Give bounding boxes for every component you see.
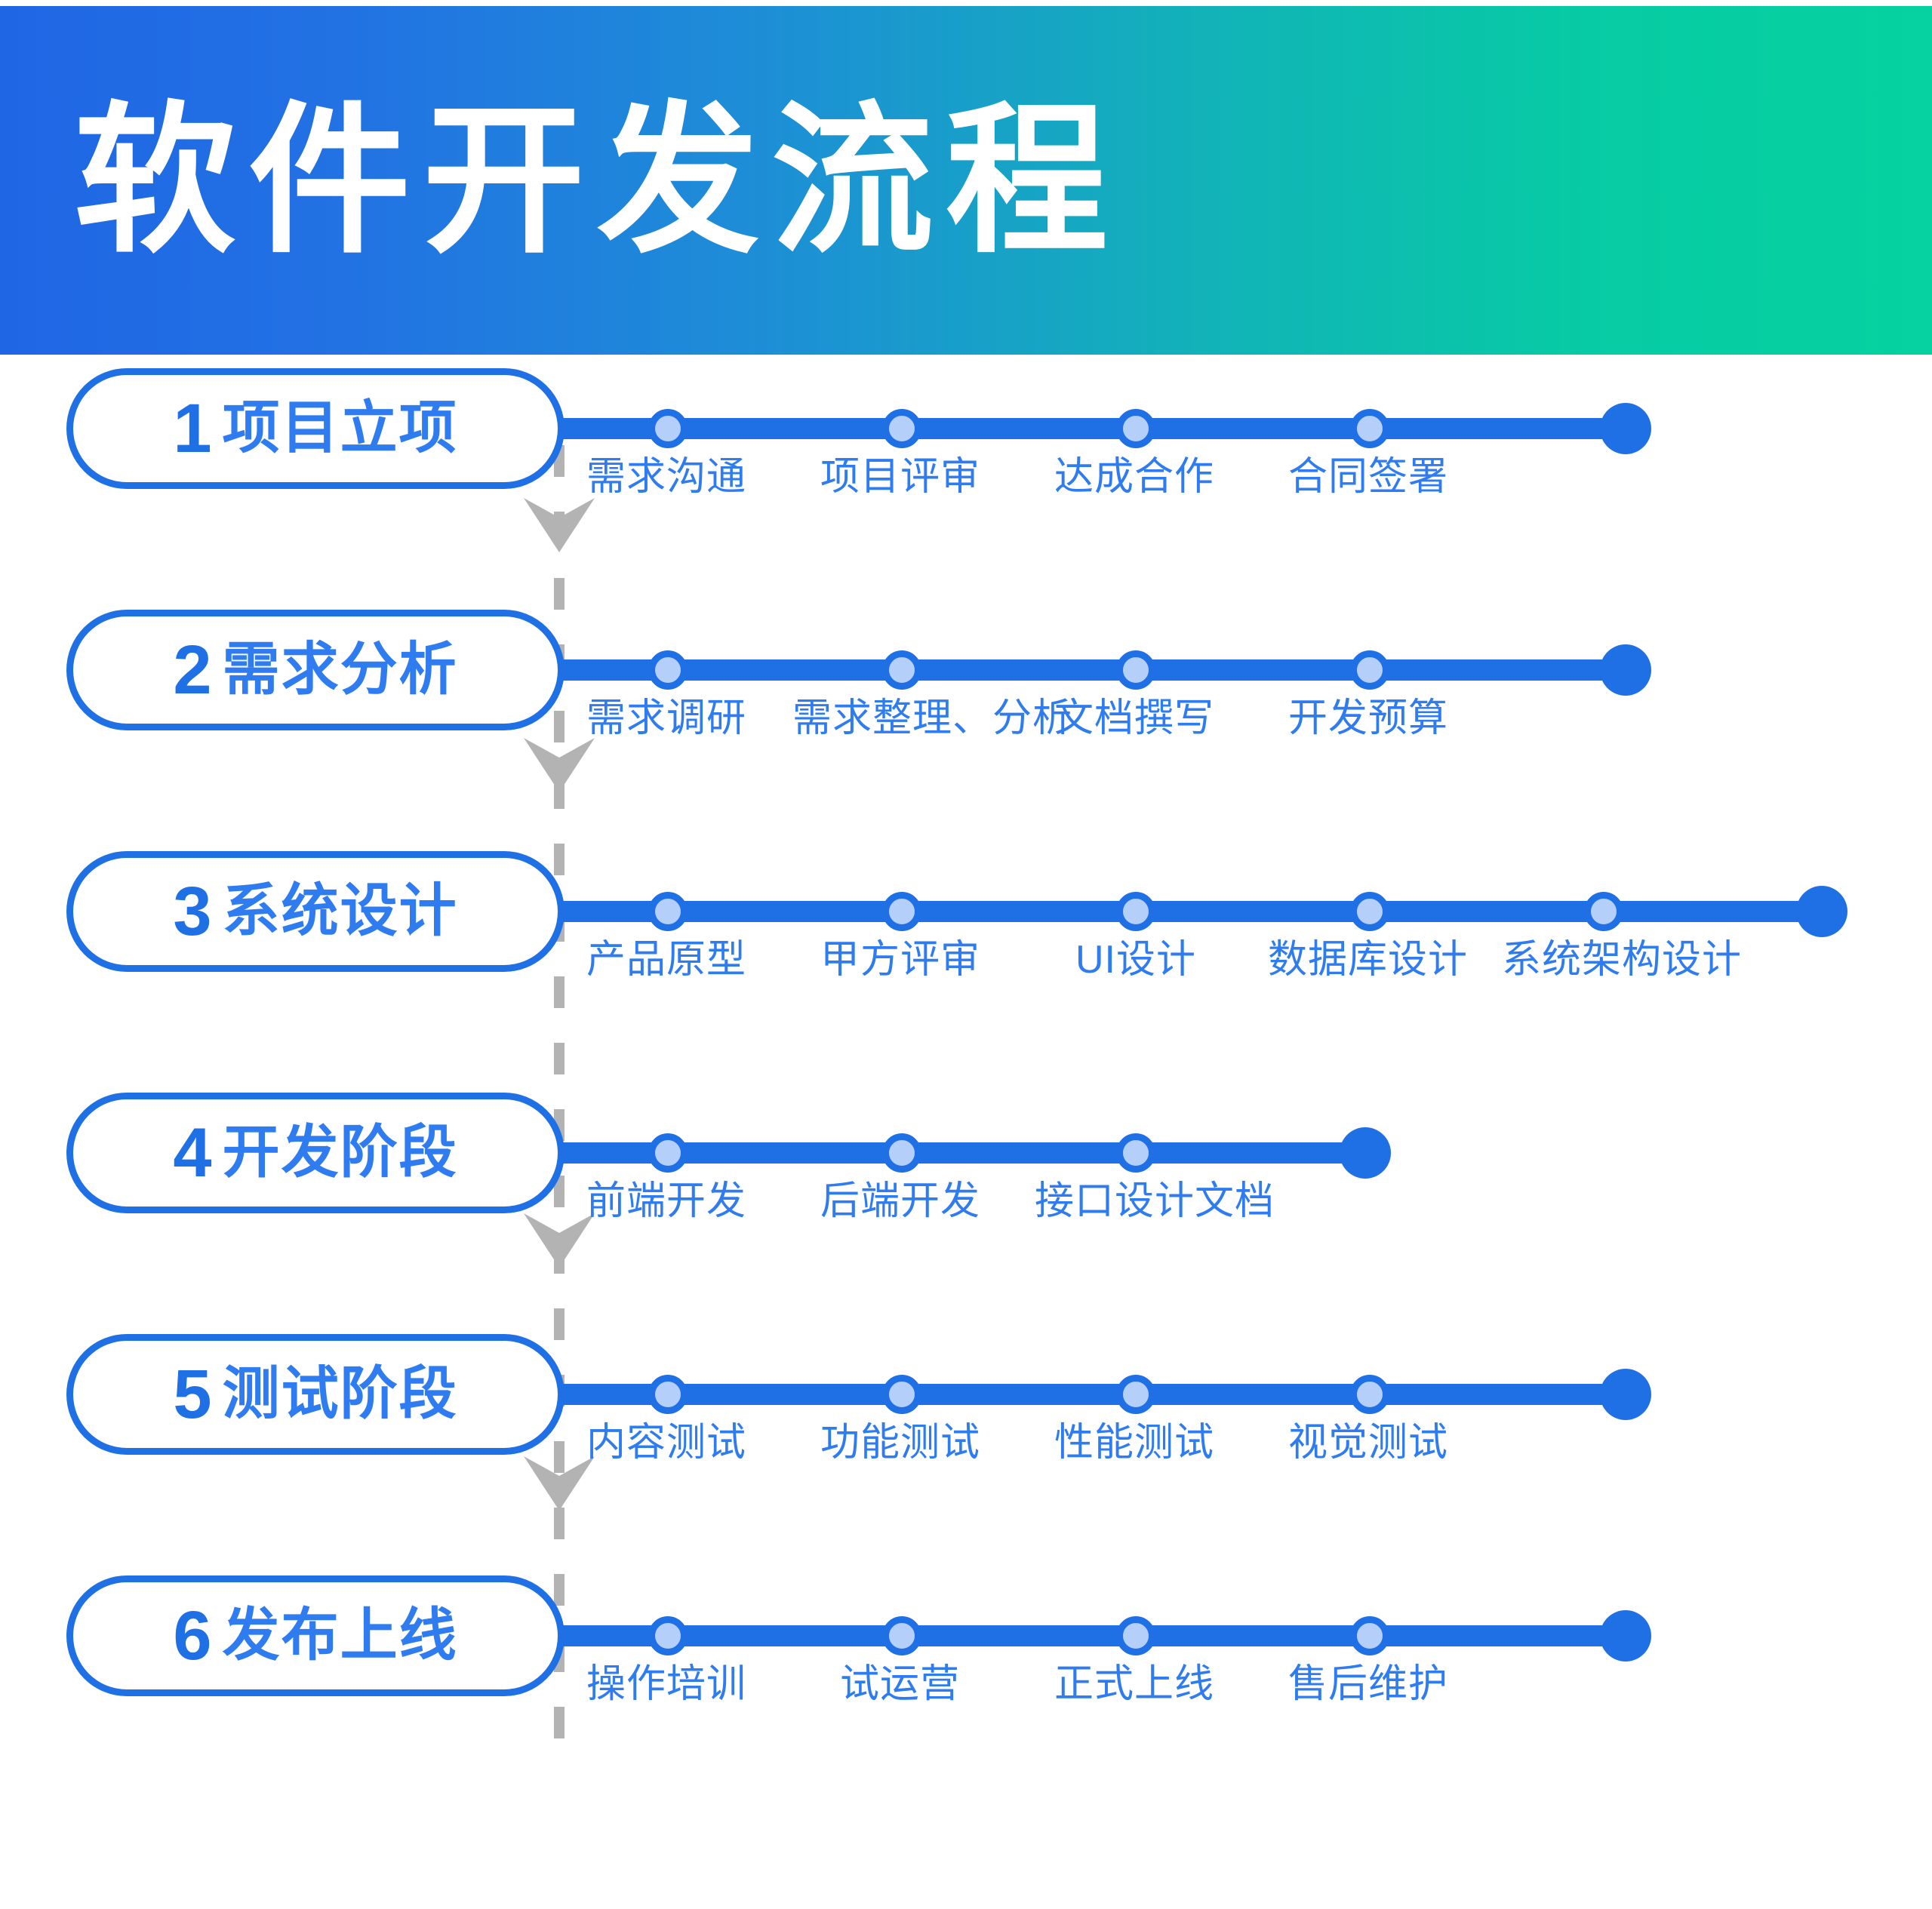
stage-row-5: 5 测试阶段 内容测试 功能测试 性能测试 视觉测试 bbox=[0, 1320, 1932, 1562]
timeline-node-4-1[interactable] bbox=[648, 1133, 688, 1173]
step-label-1-4: 合同签署 bbox=[1288, 456, 1448, 499]
stage-pill-5[interactable]: 5 测试阶段 bbox=[66, 1334, 565, 1455]
timeline-node-3-3[interactable] bbox=[1116, 892, 1155, 931]
flow-diagram: 1 项目立项 需求沟通 项目评审 达成合作 合同签署 2 需求分析 需求调研 需… bbox=[0, 355, 1932, 1909]
timeline-node-3-2[interactable] bbox=[882, 892, 921, 931]
step-label-2-2: 需求整理、分析 bbox=[792, 697, 1072, 740]
stage-number-3: 3 bbox=[173, 877, 211, 946]
step-label-6-1: 操作培训 bbox=[586, 1663, 746, 1706]
timeline-node-3-5[interactable] bbox=[1584, 892, 1623, 931]
stage-row-2: 2 需求分析 需求调研 需求整理、分析 文档撰写 开发预算 bbox=[0, 596, 1932, 838]
stage-row-6: 6 发布上线 操作培训 试运营 正式上线 售后维护 bbox=[0, 1562, 1932, 1803]
step-label-3-1: 产品原型 bbox=[586, 939, 746, 982]
step-label-6-4: 售后维护 bbox=[1288, 1663, 1448, 1706]
stage-pill-1[interactable]: 1 项目立项 bbox=[66, 368, 565, 489]
step-label-1-1: 需求沟通 bbox=[586, 456, 746, 499]
timeline-node-1-1[interactable] bbox=[648, 409, 688, 448]
step-label-3-3: UI设计 bbox=[1075, 939, 1196, 982]
step-label-5-1: 内容测试 bbox=[586, 1422, 746, 1465]
stage-number-4: 4 bbox=[173, 1118, 211, 1188]
stage-name-4: 开发阶段 bbox=[223, 1124, 458, 1182]
timeline-node-5-2[interactable] bbox=[882, 1375, 921, 1414]
step-label-5-2: 功能测试 bbox=[820, 1422, 980, 1465]
stage-row-1: 1 项目立项 需求沟通 项目评审 达成合作 合同签署 bbox=[0, 355, 1932, 596]
timeline-node-5-3[interactable] bbox=[1116, 1375, 1155, 1414]
timeline-node-3-1[interactable] bbox=[648, 892, 688, 931]
timeline-node-end-2 bbox=[1600, 644, 1651, 696]
timeline-node-end-4 bbox=[1340, 1127, 1391, 1179]
step-label-6-3: 正式上线 bbox=[1054, 1663, 1214, 1706]
stage-name-5: 测试阶段 bbox=[223, 1366, 458, 1423]
step-label-4-3: 接口设计文档 bbox=[1035, 1180, 1275, 1223]
timeline-node-3-4[interactable] bbox=[1350, 892, 1389, 931]
stage-name-3: 系统设计 bbox=[223, 883, 458, 940]
timeline-node-end-5 bbox=[1600, 1369, 1651, 1420]
page-title: 软件开发流程 bbox=[74, 100, 1120, 262]
stage-row-4: 4 开发阶段 前端开发 后端开发 接口设计文档 bbox=[0, 1079, 1932, 1320]
stage-pill-4[interactable]: 4 开发阶段 bbox=[66, 1093, 565, 1213]
timeline-node-6-1[interactable] bbox=[648, 1616, 688, 1655]
step-label-3-4: 数据库设计 bbox=[1268, 939, 1468, 982]
timeline-node-6-4[interactable] bbox=[1350, 1616, 1389, 1655]
step-label-4-2: 后端开发 bbox=[820, 1180, 980, 1223]
step-label-5-3: 性能测试 bbox=[1054, 1422, 1214, 1465]
timeline-node-4-3[interactable] bbox=[1116, 1133, 1155, 1173]
step-label-2-1: 需求调研 bbox=[586, 697, 746, 740]
timeline-node-end-1 bbox=[1600, 403, 1651, 454]
stage-pill-2[interactable]: 2 需求分析 bbox=[66, 610, 565, 730]
timeline-track-6 bbox=[558, 1625, 1638, 1646]
timeline-node-2-4[interactable] bbox=[1350, 650, 1389, 690]
timeline-track-3 bbox=[558, 901, 1834, 922]
stage-number-6: 6 bbox=[173, 1601, 211, 1671]
step-label-5-4: 视觉测试 bbox=[1288, 1422, 1448, 1465]
timeline-node-5-1[interactable] bbox=[648, 1375, 688, 1414]
timeline-track-1 bbox=[558, 418, 1638, 439]
timeline-node-6-2[interactable] bbox=[882, 1616, 921, 1655]
timeline-node-end-6 bbox=[1600, 1610, 1651, 1662]
stage-row-3: 3 系统设计 产品原型 甲方评审 UI设计 数据库设计 系统架构设计 bbox=[0, 838, 1932, 1079]
timeline-node-2-2[interactable] bbox=[882, 650, 921, 690]
stage-name-1: 项目立项 bbox=[223, 400, 458, 457]
step-label-2-4: 开发预算 bbox=[1288, 697, 1448, 740]
stage-number-5: 5 bbox=[173, 1360, 211, 1429]
timeline-node-2-1[interactable] bbox=[648, 650, 688, 690]
timeline-node-1-4[interactable] bbox=[1350, 409, 1389, 448]
step-label-3-2: 甲方评审 bbox=[820, 939, 980, 982]
stage-pill-6[interactable]: 6 发布上线 bbox=[66, 1575, 565, 1696]
timeline-track-5 bbox=[558, 1384, 1638, 1405]
timeline-node-4-2[interactable] bbox=[882, 1133, 921, 1173]
step-label-3-5: 系统架构设计 bbox=[1502, 939, 1742, 982]
timeline-node-5-4[interactable] bbox=[1350, 1375, 1389, 1414]
timeline-node-end-3 bbox=[1796, 886, 1847, 937]
timeline-node-1-2[interactable] bbox=[882, 409, 921, 448]
timeline-node-2-3[interactable] bbox=[1116, 650, 1155, 690]
step-label-4-1: 前端开发 bbox=[586, 1180, 746, 1223]
step-label-1-3: 达成合作 bbox=[1054, 456, 1214, 499]
timeline-node-1-3[interactable] bbox=[1116, 409, 1155, 448]
step-label-1-2: 项目评审 bbox=[820, 456, 980, 499]
step-label-6-2: 试运营 bbox=[840, 1663, 960, 1706]
step-label-2-3: 文档撰写 bbox=[1054, 697, 1214, 740]
timeline-node-6-3[interactable] bbox=[1116, 1616, 1155, 1655]
stage-number-1: 1 bbox=[173, 394, 211, 463]
stage-number-2: 2 bbox=[173, 635, 211, 705]
stage-name-6: 发布上线 bbox=[223, 1607, 458, 1665]
header-banner: 软件开发流程 bbox=[0, 6, 1932, 355]
timeline-track-2 bbox=[558, 659, 1638, 681]
stage-name-2: 需求分析 bbox=[223, 641, 458, 699]
stage-pill-3[interactable]: 3 系统设计 bbox=[66, 851, 565, 972]
